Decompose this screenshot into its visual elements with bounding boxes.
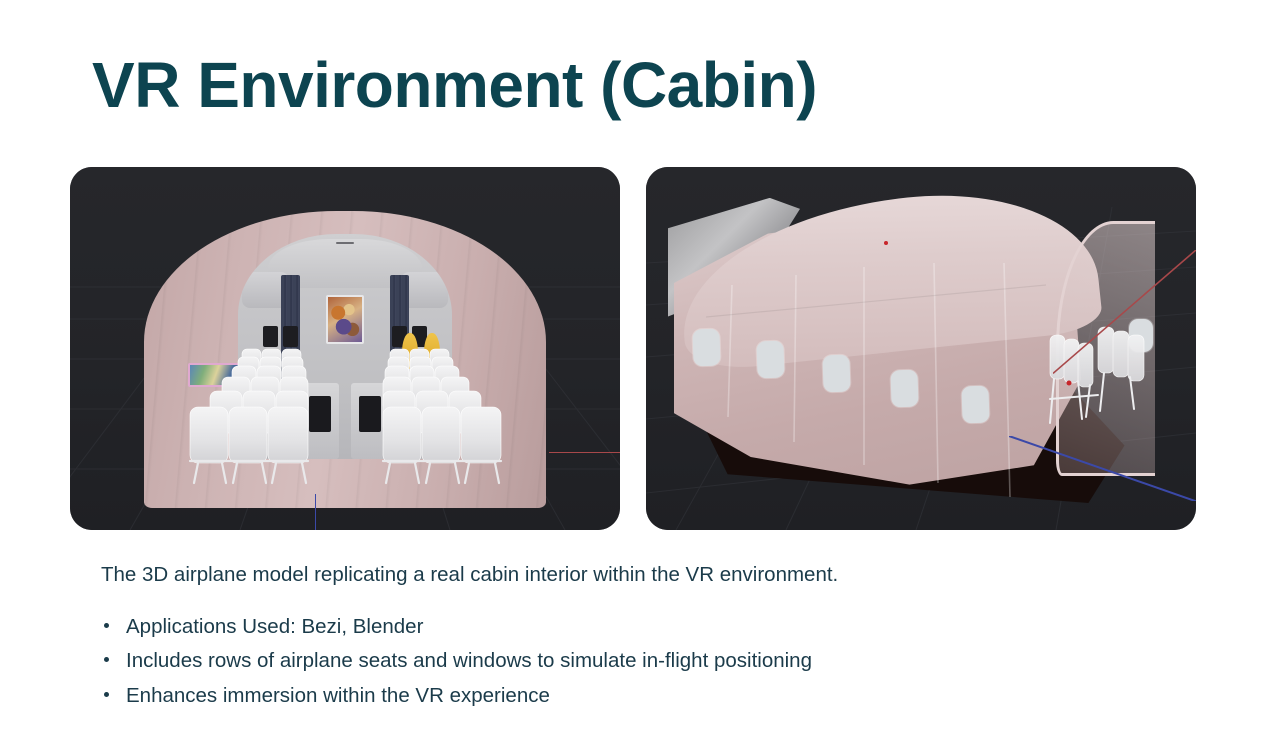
seat-row-right-6 [383, 407, 501, 463]
bullet-text: Includes rows of airplane seats and wind… [126, 649, 812, 672]
cabin-interior-render[interactable]: 3D render of airplane cabin interior vie… [70, 167, 620, 530]
seat-row-left-6 [190, 407, 308, 463]
bullet-dot-icon [104, 623, 109, 628]
axis-line-blue-left [315, 494, 317, 530]
bullet-text: Enhances immersion within the VR experie… [126, 684, 550, 707]
list-item: Enhances immersion within the VR experie… [101, 679, 812, 713]
list-item: Includes rows of airplane seats and wind… [101, 644, 812, 678]
bullet-dot-icon [104, 692, 109, 697]
axis-line-red-left [549, 452, 621, 454]
render-gallery: 3D render of airplane cabin interior vie… [70, 167, 1195, 530]
axis-line-blue-right [1009, 436, 1196, 501]
list-item: Applications Used: Bezi, Blender [101, 610, 812, 644]
axis-line-red-right [1053, 250, 1196, 373]
page-title: VR Environment (Cabin) [92, 52, 817, 119]
slide-caption: The 3D airplane model replicating a real… [101, 561, 838, 589]
slide-root: VR Environment (Cabin) [0, 0, 1262, 751]
cabin-exterior-render[interactable]: 3D render of the same cabin model seen f… [646, 167, 1196, 530]
bullet-list: Applications Used: Bezi, Blender Include… [101, 610, 812, 713]
cabin-exterior-geometry [646, 167, 1196, 530]
cabin-interior-geometry [70, 167, 620, 530]
cabin-seat-rows [70, 167, 620, 530]
bullet-dot-icon [104, 657, 109, 662]
bullet-text: Applications Used: Bezi, Blender [126, 615, 423, 638]
